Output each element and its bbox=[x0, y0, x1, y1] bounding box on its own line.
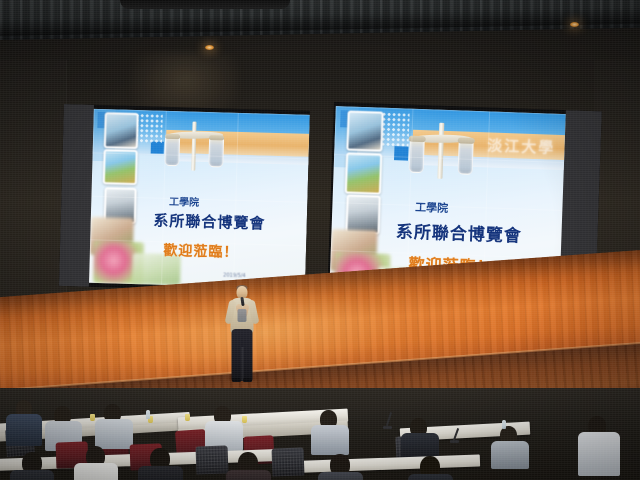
campus-photo-thumb-1 bbox=[346, 110, 384, 152]
lanyard-badge bbox=[238, 309, 247, 322]
lantern-left bbox=[409, 140, 425, 173]
left-projection-screen: 工學院 系所聯合博覽會 歡迎蒞臨！ 2019/5/4 bbox=[59, 104, 310, 293]
lamp-pole bbox=[191, 122, 197, 171]
presenter-shoe-left bbox=[232, 378, 241, 382]
slide-title-line: 系所聯合博覽會 bbox=[396, 218, 523, 247]
left-slide-image: 工學院 系所聯合博覽會 歡迎蒞臨！ 2019/5/4 bbox=[89, 109, 310, 289]
water-bottle bbox=[502, 420, 506, 429]
slide-org-line: 工學院 bbox=[169, 193, 199, 209]
campus-photo-thumb-2 bbox=[103, 149, 138, 185]
lantern-right bbox=[457, 142, 473, 175]
slide-title-line: 系所聯合博覽會 bbox=[153, 210, 266, 234]
slide-decor-block-3 bbox=[394, 147, 408, 161]
presenter-legs bbox=[232, 329, 253, 381]
audience-body bbox=[138, 466, 183, 480]
lamp-pole bbox=[438, 123, 445, 179]
desk-microphone-base bbox=[383, 426, 392, 429]
audience-body bbox=[226, 470, 271, 480]
audience-body bbox=[6, 414, 42, 446]
presenter-shoe-right bbox=[243, 378, 252, 382]
audience-body bbox=[578, 432, 620, 476]
white-desk bbox=[280, 455, 480, 474]
audience-body bbox=[318, 472, 363, 480]
ceiling-beam bbox=[120, 0, 290, 9]
audience-body bbox=[10, 470, 54, 480]
lantern-right bbox=[209, 138, 224, 167]
desk-microphone-base bbox=[450, 440, 459, 443]
campus-photo-thumb-2 bbox=[344, 153, 382, 195]
campus-photo-thumb-3 bbox=[345, 195, 380, 235]
audience-body bbox=[311, 425, 349, 455]
black-mesh-chair bbox=[196, 445, 229, 474]
slide-org-line: 工學院 bbox=[415, 199, 449, 216]
desk-microphone bbox=[386, 412, 392, 426]
auditorium-photo: 工學院 系所聯合博覽會 歡迎蒞臨！ 2019/5/4 淡江大學 bbox=[0, 0, 640, 480]
slide-watermark: 淡江大學 bbox=[487, 134, 556, 157]
campus-photo-thumb-1 bbox=[104, 113, 139, 149]
ceiling-stage-light-2 bbox=[570, 22, 579, 27]
audience-body bbox=[408, 474, 453, 480]
slide-welcome-line: 歡迎蒞臨！ bbox=[163, 240, 239, 262]
lantern-left bbox=[165, 137, 180, 166]
audience-body bbox=[95, 419, 133, 449]
wall-panel-left bbox=[0, 60, 67, 310]
seated-audience-area bbox=[0, 388, 640, 480]
water-bottle bbox=[146, 410, 150, 419]
twin-lantern-street-lamp bbox=[407, 122, 476, 180]
black-mesh-chair bbox=[272, 447, 305, 476]
audience-body bbox=[491, 441, 529, 469]
ceiling-stage-light-1 bbox=[205, 45, 214, 50]
paper-cup bbox=[185, 414, 190, 421]
audience-body bbox=[74, 463, 118, 480]
paper-cup bbox=[242, 416, 247, 423]
paper-cup bbox=[90, 414, 95, 421]
twin-lantern-street-lamp bbox=[163, 121, 225, 171]
presenter-speaker bbox=[222, 285, 262, 383]
trouser-seam bbox=[241, 347, 243, 381]
